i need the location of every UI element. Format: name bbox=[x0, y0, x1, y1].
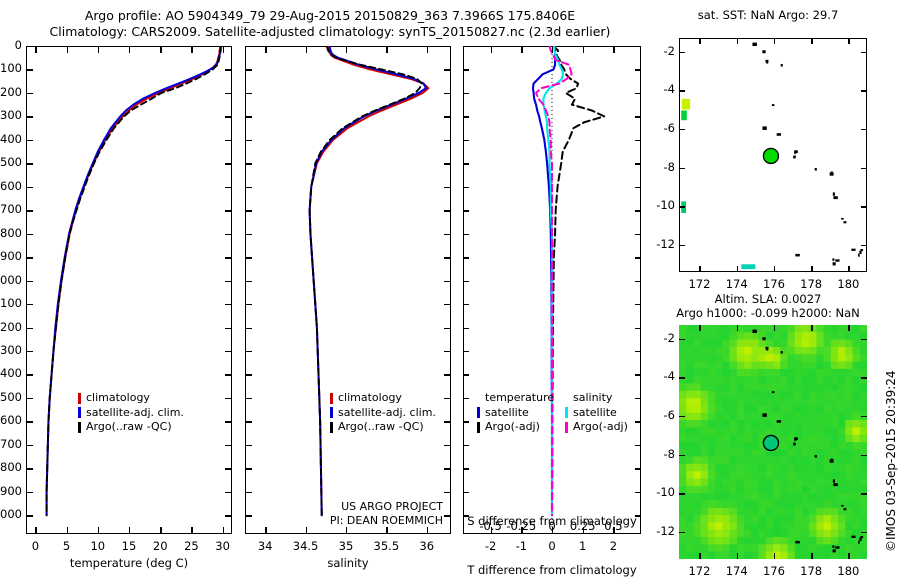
sla-grid-cell bbox=[809, 347, 817, 355]
sla-grid-cell bbox=[737, 391, 745, 399]
sla-grid-cell bbox=[737, 464, 745, 472]
sla-grid-cell bbox=[816, 449, 824, 457]
sla-grid-cell bbox=[802, 522, 810, 530]
sla-grid-cell bbox=[715, 413, 723, 421]
sla-grid-cell bbox=[730, 508, 738, 516]
sla-grid-cell bbox=[679, 530, 687, 538]
sla-grid-cell bbox=[686, 552, 694, 559]
axis-tick bbox=[861, 455, 867, 456]
sla-grid-cell bbox=[816, 530, 824, 538]
sla-grid-cell bbox=[701, 515, 709, 523]
sla-grid-cell bbox=[809, 537, 817, 545]
sla-grid-cell bbox=[780, 479, 788, 487]
sla-grid-cell bbox=[708, 325, 716, 333]
sla-grid-cell bbox=[679, 479, 687, 487]
title-line-1: Argo profile: AO 5904349_79 29-Aug-2015 … bbox=[0, 8, 660, 24]
sla-grid-cell bbox=[795, 464, 803, 472]
sla-grid-cell bbox=[722, 479, 730, 487]
axis-tick bbox=[245, 116, 252, 117]
sla-grid-cell bbox=[787, 405, 795, 413]
sla-grid-cell bbox=[838, 486, 846, 494]
sla-grid-cell bbox=[751, 449, 759, 457]
sla-grid-cell bbox=[802, 427, 810, 435]
sla-grid-cell bbox=[744, 486, 752, 494]
axis-tick bbox=[679, 377, 685, 378]
sla-grid-cell bbox=[759, 384, 767, 392]
sla-grid-cell bbox=[831, 515, 839, 523]
sla-grid-cell bbox=[773, 486, 781, 494]
sla-grid-cell bbox=[816, 486, 824, 494]
sla-grid-cell bbox=[730, 449, 738, 457]
sla-grid-cell bbox=[787, 347, 795, 355]
axis-tick-label: 178 bbox=[791, 564, 831, 578]
sla-grid-cell bbox=[802, 391, 810, 399]
sla-grid-cell bbox=[751, 362, 759, 370]
sla-grid-cell bbox=[802, 515, 810, 523]
sla-grid-cell bbox=[701, 522, 709, 530]
sla-grid-cell bbox=[838, 362, 846, 370]
sla-grid-cell bbox=[730, 493, 738, 501]
axis-tick bbox=[463, 374, 469, 375]
sla-grid-cell bbox=[737, 376, 745, 384]
sla-grid-cell bbox=[730, 362, 738, 370]
island-marker bbox=[841, 505, 844, 507]
sla-grid-cell bbox=[730, 471, 738, 479]
sla-grid-cell bbox=[816, 405, 824, 413]
sla-grid-cell bbox=[816, 420, 824, 428]
sla-grid-cell bbox=[766, 332, 774, 340]
sla-grid-cell bbox=[853, 471, 861, 479]
axis-tick bbox=[225, 163, 232, 164]
sla-grid-cell bbox=[715, 376, 723, 384]
sla-grid-cell bbox=[853, 332, 861, 340]
sla-grid-cell bbox=[693, 435, 701, 443]
sla-grid-cell bbox=[787, 552, 795, 559]
sla-grid-cell bbox=[701, 369, 709, 377]
sla-grid-cell bbox=[853, 405, 861, 413]
sla-grid-cell bbox=[853, 347, 861, 355]
sst-data-patch bbox=[741, 264, 755, 269]
sla-grid-cell bbox=[679, 354, 687, 362]
axis-tick bbox=[225, 468, 232, 469]
sla-grid-cell bbox=[701, 427, 709, 435]
axis-tick bbox=[463, 398, 469, 399]
temperature-legend: climatology satellite-adj. clim. Argo(..… bbox=[78, 391, 184, 435]
axis-tick bbox=[225, 351, 232, 352]
series-climatology bbox=[47, 46, 221, 515]
sla-grid-cell bbox=[795, 384, 803, 392]
axis-tick bbox=[386, 527, 387, 534]
sla-grid-cell bbox=[838, 384, 846, 392]
sla-grid-cell bbox=[766, 427, 774, 435]
sla-grid-cell bbox=[766, 530, 774, 538]
argo-float-marker[interactable] bbox=[763, 435, 778, 450]
sla-grid-cell bbox=[780, 332, 788, 340]
title-line-2: Climatology: CARS2009. Satellite-adjuste… bbox=[0, 24, 660, 40]
sla-grid-cell bbox=[824, 413, 832, 421]
sla-grid-cell bbox=[845, 501, 853, 509]
sla-grid-cell bbox=[766, 457, 774, 465]
sla-grid-cell bbox=[766, 544, 774, 552]
sla-grid-cell bbox=[853, 442, 861, 450]
sla-grid-cell bbox=[802, 332, 810, 340]
sla-grid-cell bbox=[722, 376, 730, 384]
sla-grid-cell bbox=[715, 405, 723, 413]
island-marker bbox=[860, 536, 863, 538]
axis-tick bbox=[245, 445, 252, 446]
sla-grid-cell bbox=[708, 340, 716, 348]
sla-grid-cell bbox=[715, 369, 723, 377]
sla-grid-cell bbox=[744, 530, 752, 538]
axis-tick bbox=[306, 527, 307, 534]
sla-grid-cell bbox=[737, 522, 745, 530]
sla-grid-cell bbox=[766, 376, 774, 384]
sla-grid-cell bbox=[701, 398, 709, 406]
sla-grid-cell bbox=[809, 413, 817, 421]
satellite-clim-swatch bbox=[78, 407, 81, 418]
sla-grid-cell bbox=[759, 464, 767, 472]
sla-grid-cell bbox=[787, 354, 795, 362]
sla-grid-cell bbox=[686, 405, 694, 413]
sla-grid-cell bbox=[831, 449, 839, 457]
axis-tick bbox=[635, 304, 641, 305]
sla-grid-cell bbox=[773, 384, 781, 392]
sla-grid-cell bbox=[686, 354, 694, 362]
sla-grid-cell bbox=[722, 354, 730, 362]
axis-tick bbox=[245, 46, 252, 47]
axis-tick bbox=[444, 163, 451, 164]
sla-grid-cell bbox=[809, 369, 817, 377]
sla-grid-cell bbox=[860, 508, 867, 516]
island-marker bbox=[830, 459, 834, 462]
sla-grid-cell bbox=[824, 493, 832, 501]
sla-grid-cell bbox=[795, 449, 803, 457]
sla-grid-cell bbox=[693, 391, 701, 399]
axis-tick bbox=[245, 398, 252, 399]
sla-grid-cell bbox=[693, 340, 701, 348]
legend-item: satellite-adj. clim. bbox=[330, 406, 436, 421]
sla-grid-cell bbox=[824, 537, 832, 545]
sla-grid-cell bbox=[722, 501, 730, 509]
sla-grid-cell bbox=[744, 413, 752, 421]
sla-grid-cell bbox=[715, 464, 723, 472]
sla-grid-cell bbox=[751, 398, 759, 406]
axis-tick-label: -4 bbox=[645, 369, 675, 383]
island-marker bbox=[833, 479, 835, 482]
sla-grid-cell bbox=[824, 522, 832, 530]
sla-grid-cell bbox=[744, 457, 752, 465]
axis-tick-label: 400 bbox=[0, 132, 22, 146]
sla-grid-cell bbox=[816, 508, 824, 516]
legend-label: satellite bbox=[485, 406, 529, 421]
sla-grid-cell bbox=[787, 493, 795, 501]
axis-tick bbox=[491, 46, 492, 53]
sla-grid-cell bbox=[838, 340, 846, 348]
sla-grid-cell bbox=[679, 384, 687, 392]
axis-tick-label: 1600 bbox=[0, 413, 22, 427]
sla-grid-cell bbox=[751, 405, 759, 413]
axis-tick bbox=[225, 46, 232, 47]
sla-grid-cell bbox=[831, 340, 839, 348]
axis-tick bbox=[679, 245, 685, 246]
sla-grid-cell bbox=[802, 471, 810, 479]
axis-tick bbox=[463, 445, 469, 446]
sla-grid-cell bbox=[824, 442, 832, 450]
sla-grid-cell bbox=[708, 508, 716, 516]
sla-grid-cell bbox=[809, 486, 817, 494]
sla-grid-cell bbox=[744, 552, 752, 559]
axis-tick bbox=[861, 90, 867, 91]
sla-grid-cell bbox=[693, 537, 701, 545]
sla-grid-cell bbox=[759, 449, 767, 457]
sla-grid-cell bbox=[744, 522, 752, 530]
island-marker bbox=[833, 196, 837, 199]
sla-grid-cell bbox=[722, 427, 730, 435]
sla-grid-cell bbox=[730, 515, 738, 523]
sla-grid-cell bbox=[693, 362, 701, 370]
sla-grid-cell bbox=[802, 464, 810, 472]
sla-grid-cell bbox=[816, 325, 824, 333]
sla-grid-cell bbox=[715, 530, 723, 538]
sla-grid-cell bbox=[679, 442, 687, 450]
axis-tick bbox=[306, 46, 307, 53]
sst-map-title: sat. SST: NaN Argo: 29.7 bbox=[668, 8, 868, 22]
sla-grid-cell bbox=[686, 332, 694, 340]
sla-grid-cell bbox=[780, 354, 788, 362]
sla-grid-cell bbox=[809, 332, 817, 340]
axis-tick bbox=[861, 339, 867, 340]
sla-grid-cell bbox=[795, 479, 803, 487]
sla-grid-cell bbox=[679, 405, 687, 413]
sla-grid-cell bbox=[730, 501, 738, 509]
sla-grid-cell bbox=[744, 464, 752, 472]
sla-grid-cell bbox=[816, 347, 824, 355]
sla-grid-cell bbox=[693, 486, 701, 494]
sla-grid-cell bbox=[686, 508, 694, 516]
sla-grid-cell bbox=[751, 340, 759, 348]
sla-grid-cell bbox=[831, 435, 839, 443]
sla-grid-cell bbox=[730, 391, 738, 399]
sla-grid-cell bbox=[816, 522, 824, 530]
sla-grid-cell bbox=[824, 340, 832, 348]
difference-xlabel-bottom: T difference from climatology bbox=[458, 563, 646, 577]
sla-grid-cell bbox=[787, 457, 795, 465]
sla-grid-cell bbox=[766, 384, 774, 392]
axis-tick bbox=[463, 187, 469, 188]
sla-grid-cell bbox=[853, 457, 861, 465]
sla-grid-cell bbox=[715, 471, 723, 479]
axis-tick bbox=[635, 257, 641, 258]
sla-grid-cell bbox=[708, 501, 716, 509]
axis-tick bbox=[861, 377, 867, 378]
axis-tick-label: -12 bbox=[645, 524, 675, 538]
sla-grid-cell bbox=[730, 435, 738, 443]
sla-grid-cell bbox=[737, 420, 745, 428]
sla-grid-cell bbox=[824, 530, 832, 538]
sla-grid-cell bbox=[838, 405, 846, 413]
sla-grid-cell bbox=[831, 332, 839, 340]
axis-tick-label: 2000 bbox=[0, 507, 22, 521]
legend-item: satellite-adj. clim. bbox=[78, 406, 184, 421]
sla-grid-cell bbox=[730, 522, 738, 530]
sla-grid-cell bbox=[701, 413, 709, 421]
axis-tick bbox=[67, 527, 68, 534]
sla-grid-cell bbox=[715, 493, 723, 501]
sla-grid-cell bbox=[737, 398, 745, 406]
sla-grid-cell bbox=[722, 420, 730, 428]
sla-grid-cell bbox=[795, 362, 803, 370]
sla-grid-cell bbox=[730, 413, 738, 421]
axis-tick bbox=[245, 328, 252, 329]
axis-tick bbox=[774, 325, 775, 331]
temperature-satellite-swatch bbox=[477, 407, 480, 418]
sla-grid-cell bbox=[824, 347, 832, 355]
sla-grid-cell bbox=[701, 464, 709, 472]
sla-grid-cell bbox=[766, 325, 774, 333]
sla-grid-cell bbox=[751, 442, 759, 450]
sla-grid-cell bbox=[715, 479, 723, 487]
sla-grid-cell bbox=[831, 471, 839, 479]
island-marker bbox=[833, 262, 836, 265]
sla-grid-cell bbox=[686, 340, 694, 348]
island-marker bbox=[752, 330, 756, 333]
axis-tick bbox=[245, 69, 252, 70]
axis-tick bbox=[635, 234, 641, 235]
island-marker bbox=[833, 192, 835, 195]
sla-grid-cell bbox=[759, 493, 767, 501]
sla-grid-cell bbox=[766, 493, 774, 501]
sla-grid-cell bbox=[795, 457, 803, 465]
spacer bbox=[477, 393, 480, 404]
axis-tick bbox=[463, 468, 469, 469]
sla-grid-cell bbox=[744, 442, 752, 450]
axis-tick bbox=[463, 210, 469, 211]
sla-grid-cell bbox=[838, 332, 846, 340]
sla-grid-cell bbox=[845, 544, 853, 552]
island-marker bbox=[777, 133, 781, 136]
sla-grid-cell bbox=[737, 530, 745, 538]
sla-grid-cell bbox=[838, 376, 846, 384]
sla-grid-cell bbox=[686, 479, 694, 487]
axis-tick-label: -8 bbox=[645, 160, 675, 174]
sla-grid-cell bbox=[708, 435, 716, 443]
sla-grid-cell bbox=[722, 449, 730, 457]
axis-tick bbox=[26, 257, 33, 258]
sla-grid-cell bbox=[679, 501, 687, 509]
sla-grid-cell bbox=[708, 384, 716, 392]
sla-grid-cell bbox=[730, 457, 738, 465]
sla-grid-cell bbox=[686, 347, 694, 355]
sla-grid-cell bbox=[795, 332, 803, 340]
axis-tick-label: 0 bbox=[0, 38, 22, 52]
axis-tick-label: -6 bbox=[645, 408, 675, 422]
sla-grid-cell bbox=[831, 464, 839, 472]
sla-grid-cell bbox=[751, 471, 759, 479]
sla-grid-cell bbox=[780, 384, 788, 392]
sla-grid-cell bbox=[853, 493, 861, 501]
sla-grid-cell bbox=[730, 486, 738, 494]
temperature-argo-swatch bbox=[477, 422, 480, 433]
sla-grid-cell bbox=[860, 347, 867, 355]
sla-grid-cell bbox=[708, 449, 716, 457]
sla-grid-cell bbox=[744, 332, 752, 340]
series-salinity-argo-adj- bbox=[536, 46, 572, 515]
legend-label: Argo(..raw -QC) bbox=[86, 420, 172, 435]
sla-grid-cell bbox=[759, 530, 767, 538]
sla-grid-cell bbox=[708, 413, 716, 421]
sla-grid-cell bbox=[795, 471, 803, 479]
sla-grid-cell bbox=[853, 552, 861, 559]
sla-grid-cell bbox=[751, 376, 759, 384]
climatology-swatch bbox=[78, 393, 81, 404]
sla-grid-cell bbox=[780, 515, 788, 523]
sla-grid-cell bbox=[679, 325, 687, 333]
axis-tick bbox=[679, 129, 685, 130]
sla-grid-cell bbox=[824, 435, 832, 443]
sla-grid-cell bbox=[708, 391, 716, 399]
series-argo-raw-qc- bbox=[47, 46, 221, 515]
axis-tick-label: 35 bbox=[324, 539, 368, 553]
sla-grid-cell bbox=[787, 340, 795, 348]
argo-float-marker[interactable] bbox=[763, 148, 778, 163]
axis-tick bbox=[774, 266, 775, 272]
sla-grid-cell bbox=[773, 362, 781, 370]
sla-grid-cell bbox=[744, 471, 752, 479]
sla-grid-cell bbox=[679, 420, 687, 428]
axis-tick bbox=[225, 374, 232, 375]
sla-grid-cell bbox=[853, 486, 861, 494]
sla-grid-cell bbox=[737, 442, 745, 450]
sla-grid-cell bbox=[802, 449, 810, 457]
sla-grid-cell bbox=[853, 508, 861, 516]
sla-grid-cell bbox=[809, 493, 817, 501]
sla-grid-cell bbox=[730, 479, 738, 487]
axis-tick bbox=[521, 46, 522, 53]
sla-grid-cell bbox=[853, 479, 861, 487]
sla-grid-cell bbox=[693, 376, 701, 384]
sla-grid-cell bbox=[708, 405, 716, 413]
sla-grid-cell bbox=[744, 544, 752, 552]
sla-grid-cell bbox=[693, 420, 701, 428]
axis-tick bbox=[679, 532, 685, 533]
axis-tick bbox=[225, 116, 232, 117]
sla-grid-cell bbox=[693, 354, 701, 362]
axis-tick bbox=[225, 257, 232, 258]
sla-grid-cell bbox=[737, 493, 745, 501]
sla-grid-cell bbox=[795, 405, 803, 413]
sla-grid-cell bbox=[816, 471, 824, 479]
sla-grid-cell bbox=[780, 405, 788, 413]
axis-tick bbox=[679, 416, 685, 417]
sla-grid-cell bbox=[860, 442, 867, 450]
sla-grid-cell bbox=[766, 486, 774, 494]
sla-grid-cell bbox=[780, 508, 788, 516]
axis-tick bbox=[635, 187, 641, 188]
sla-grid-cell bbox=[751, 479, 759, 487]
sla-grid-cell bbox=[679, 544, 687, 552]
sla-grid-cell bbox=[838, 530, 846, 538]
sla-grid-cell bbox=[795, 552, 803, 559]
axis-tick bbox=[26, 281, 33, 282]
axis-tick bbox=[861, 168, 867, 169]
sla-grid-cell bbox=[693, 384, 701, 392]
axis-tick bbox=[463, 492, 469, 493]
sst-map-plot bbox=[679, 38, 867, 272]
sla-grid-cell bbox=[766, 552, 774, 559]
sla-grid-cell bbox=[802, 479, 810, 487]
axis-tick bbox=[245, 304, 252, 305]
island-marker bbox=[795, 254, 799, 257]
